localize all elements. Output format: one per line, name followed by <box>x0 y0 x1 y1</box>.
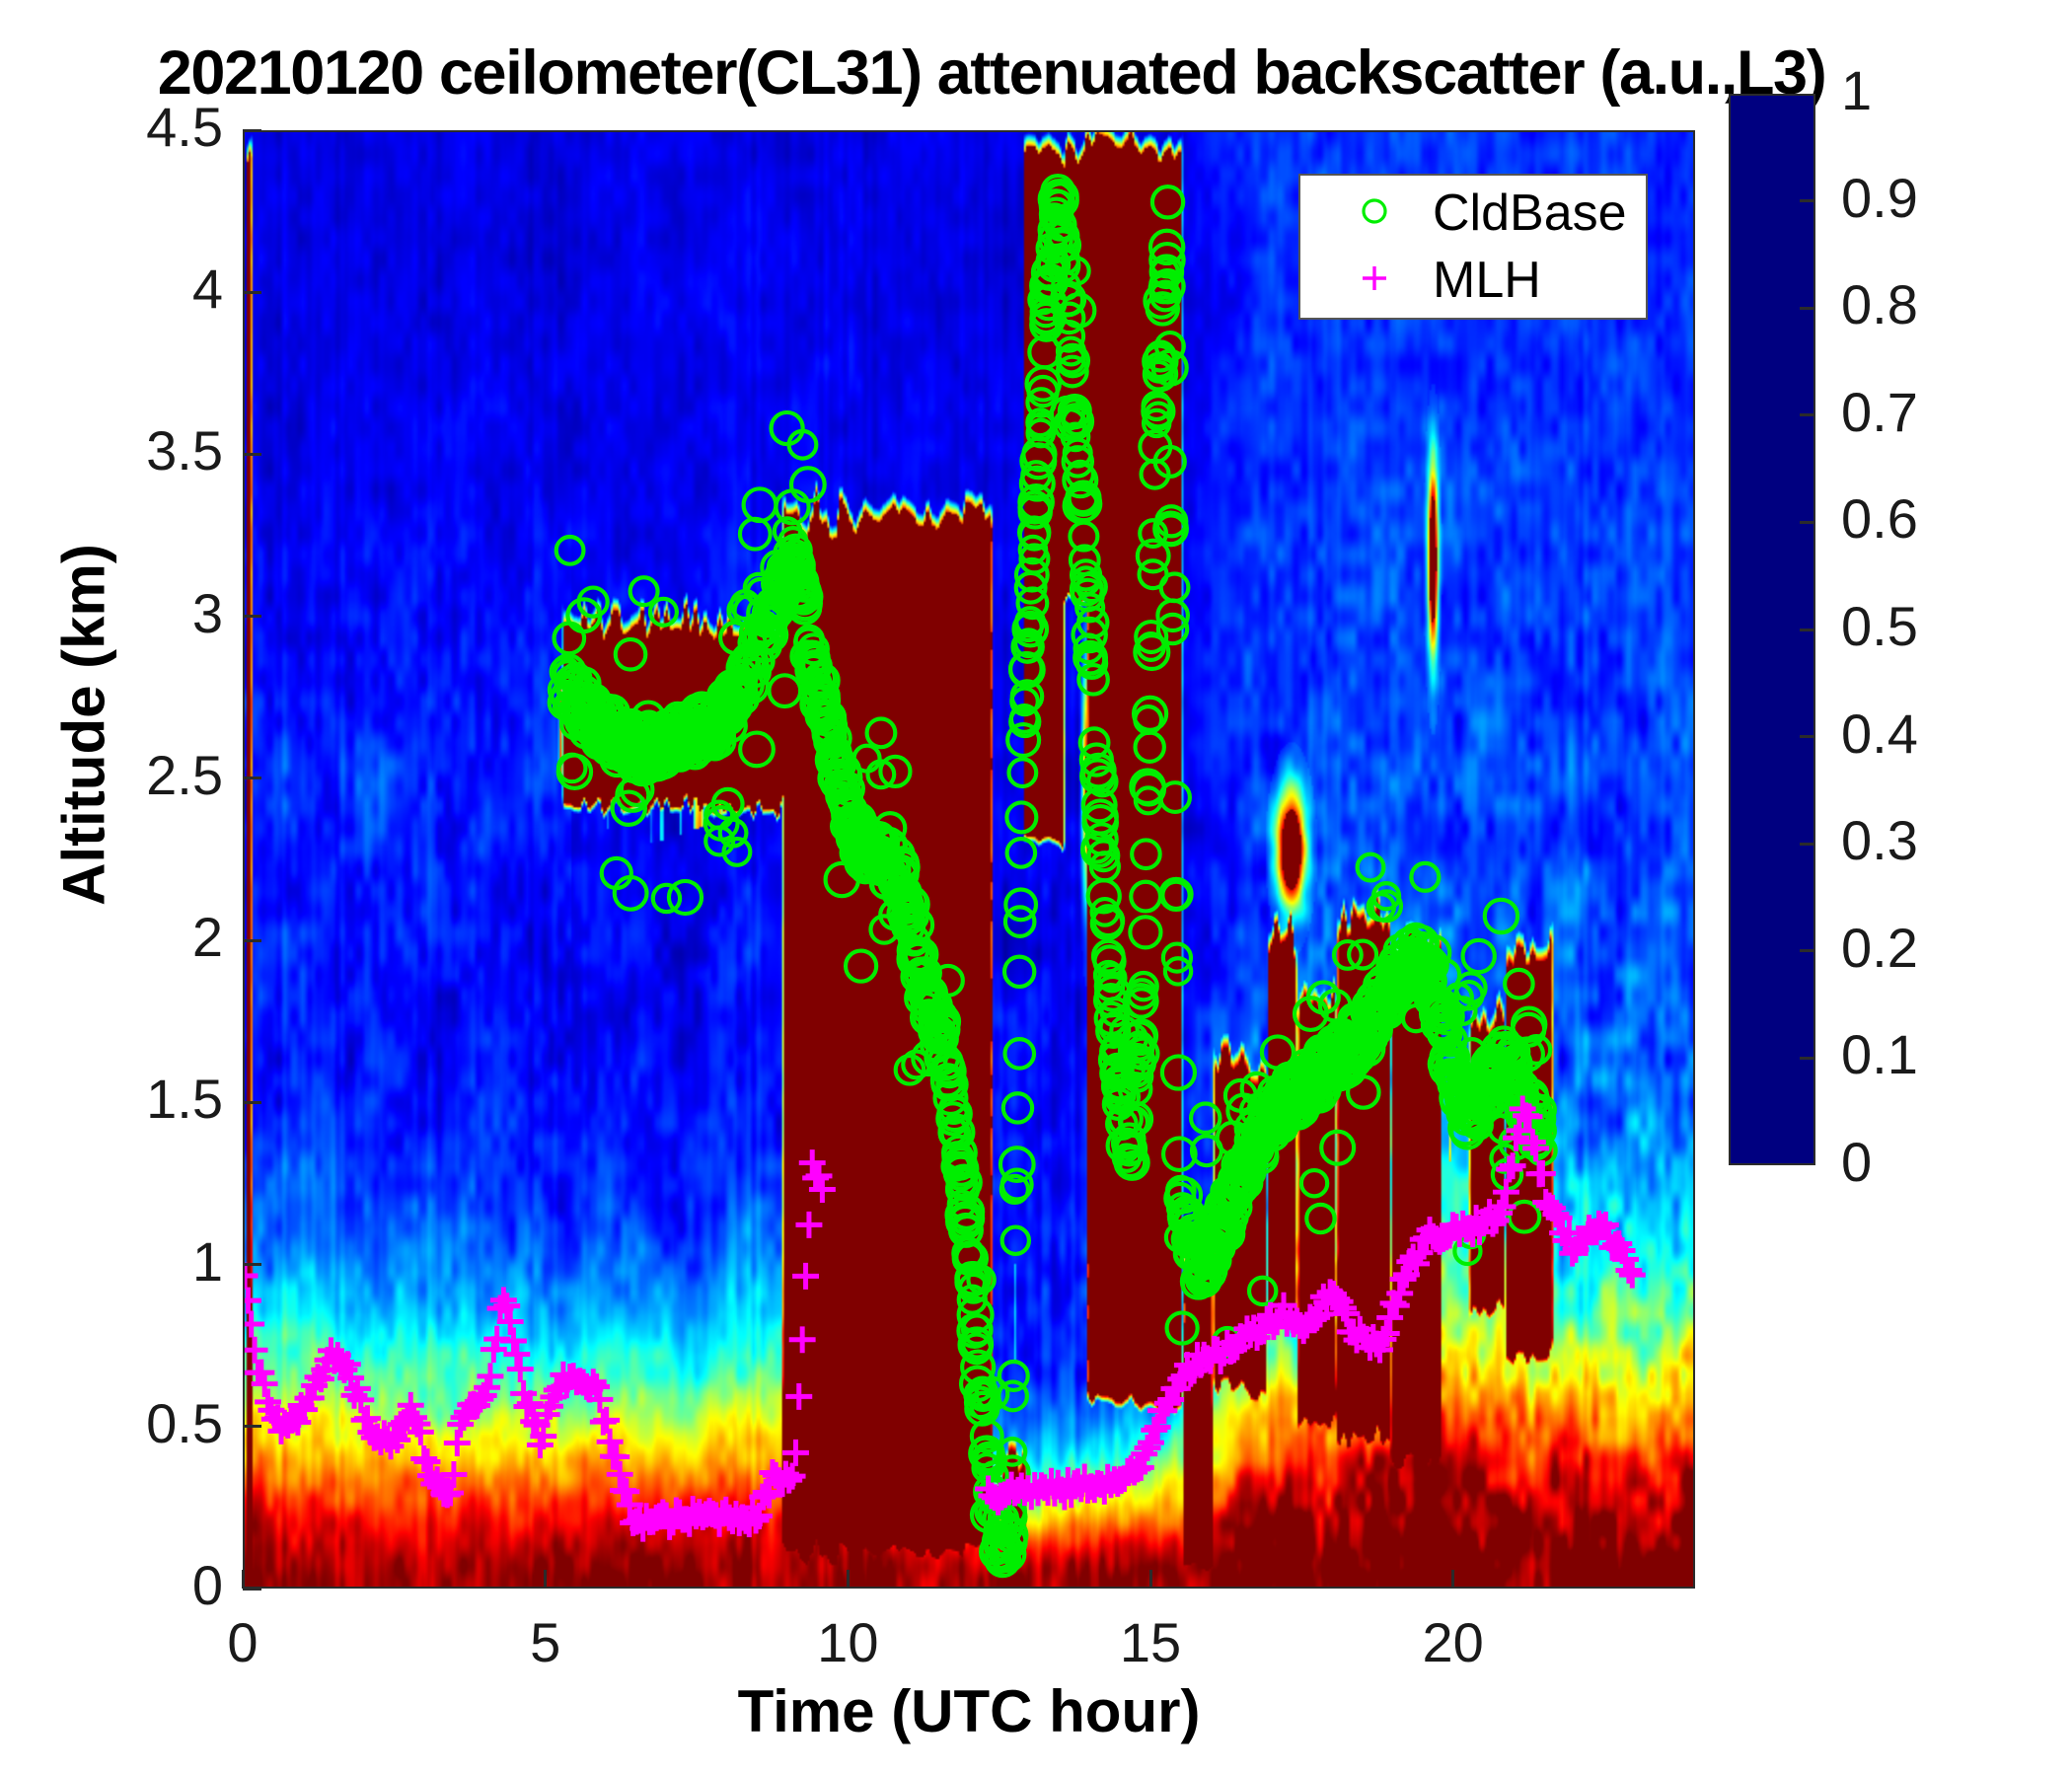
colorbar-tick-label: 1 <box>1841 58 1872 122</box>
colorbar-tick-label: 0.8 <box>1841 272 1918 336</box>
colorbar-tick-mark <box>1800 735 1815 738</box>
y-tick-mark <box>243 1425 261 1428</box>
y-tick-mark <box>243 615 261 618</box>
legend-item-cldbase[interactable]: CldBase <box>1300 180 1646 247</box>
y-tick-label: 0.5 <box>0 1391 223 1455</box>
circle-marker-icon <box>1316 194 1433 233</box>
y-tick-label: 1 <box>0 1229 223 1294</box>
colorbar-tick-label: 0.1 <box>1841 1022 1918 1086</box>
colorbar-tick-label: 0.9 <box>1841 166 1918 230</box>
x-tick-mark <box>1149 1570 1152 1589</box>
x-axis-label: Time (UTC hour) <box>243 1677 1695 1745</box>
colorbar-tick-mark <box>1800 521 1815 524</box>
colorbar-tick-mark <box>1800 199 1815 202</box>
y-tick-mark <box>243 1263 261 1266</box>
y-tick-mark <box>243 1588 261 1591</box>
page-title: 20210120 ceilometer(CL31) attenuated bac… <box>0 37 1983 109</box>
colorbar-tick-mark <box>1800 949 1815 952</box>
y-tick-label: 4.5 <box>0 95 223 159</box>
colorbar-tick-mark <box>1800 1057 1815 1060</box>
legend-label-cldbase: CldBase <box>1433 184 1627 243</box>
legend-item-mlh[interactable]: MLH <box>1300 247 1646 314</box>
colorbar-tick-mark <box>1800 413 1815 416</box>
plus-marker-icon <box>1316 261 1433 300</box>
y-tick-mark <box>243 777 261 779</box>
x-tick-mark <box>847 1570 850 1589</box>
y-tick-mark <box>243 939 261 942</box>
colorbar-tick-label: 0.2 <box>1841 916 1918 980</box>
y-tick-mark <box>243 129 261 132</box>
colorbar-tick-label: 0.6 <box>1841 486 1918 551</box>
x-tick-label: 5 <box>447 1610 644 1674</box>
x-tick-label: 0 <box>144 1610 341 1674</box>
x-tick-label: 10 <box>749 1610 946 1674</box>
y-tick-mark <box>243 291 261 294</box>
cldbase-markers <box>550 176 1556 1576</box>
colorbar-tick-mark <box>1800 307 1815 310</box>
colorbar-tick-mark <box>1800 629 1815 631</box>
colorbar-tick-label: 0.4 <box>1841 702 1918 766</box>
x-tick-mark <box>1451 1570 1454 1589</box>
plot-area[interactable] <box>243 130 1695 1589</box>
x-tick-label: 20 <box>1355 1610 1552 1674</box>
colorbar-tick-label: 0.7 <box>1841 380 1918 444</box>
y-tick-label: 4 <box>0 257 223 321</box>
y-axis-label: Altitude (km) <box>50 449 118 1001</box>
legend-label-mlh: MLH <box>1433 251 1541 310</box>
y-tick-label: 1.5 <box>0 1067 223 1131</box>
y-tick-mark <box>243 1101 261 1104</box>
colorbar-tick-label: 0 <box>1841 1130 1872 1194</box>
figure-root: 20210120 ceilometer(CL31) attenuated bac… <box>0 0 2072 1776</box>
x-tick-mark <box>242 1570 245 1589</box>
x-tick-mark <box>544 1570 547 1589</box>
colorbar-tick-mark <box>1800 843 1815 846</box>
y-tick-label: 0 <box>0 1553 223 1617</box>
y-tick-mark <box>243 453 261 456</box>
marker-overlay <box>245 132 1693 1587</box>
x-tick-label: 15 <box>1052 1610 1249 1674</box>
colorbar-tick-label: 0.5 <box>1841 594 1918 658</box>
legend[interactable]: CldBase MLH <box>1298 174 1648 320</box>
colorbar-tick-label: 0.3 <box>1841 808 1918 872</box>
